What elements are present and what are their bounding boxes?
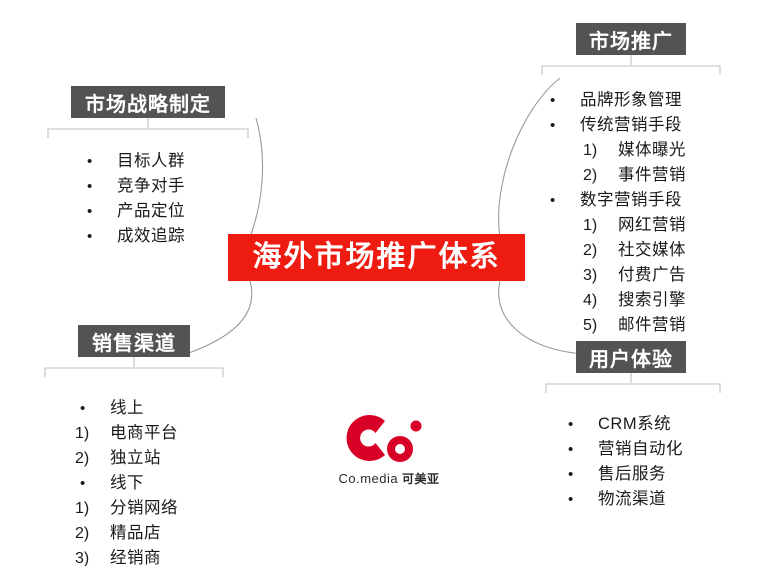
center-node-title: 海外市场推广体系	[252, 243, 500, 272]
list-marker: •	[563, 463, 598, 487]
list-text: 营销自动化	[598, 437, 683, 461]
mindmap-canvas: 海外市场推广体系 市场战略制定 • 目标人群 • 竞争对手 • 产品定位 • 成…	[0, 0, 773, 566]
list-text: 产品定位	[117, 199, 185, 223]
list-item[interactable]: • 物流渠道	[563, 487, 683, 512]
list-item[interactable]: 3) 付费广告	[545, 263, 686, 288]
list-item[interactable]: 3) 经销商	[75, 546, 178, 566]
list-marker: •	[82, 225, 117, 249]
list-item[interactable]: 2) 独立站	[75, 446, 178, 471]
logo-wordmark-en: Co.media	[339, 471, 399, 486]
list-marker: •	[75, 472, 110, 496]
list-marker: •	[563, 488, 598, 512]
co-media-logo-mark	[323, 407, 455, 469]
list-item[interactable]: 4) 搜索引擎	[545, 288, 686, 313]
list-marker: 2)	[583, 164, 618, 188]
branch-header-sales-channel[interactable]: 销售渠道	[78, 325, 190, 357]
list-marker: •	[545, 114, 580, 138]
list-item[interactable]: 1) 媒体曝光	[545, 138, 686, 163]
bracket-sales-channel	[43, 357, 235, 379]
list-text: 传统营销手段	[580, 113, 682, 137]
list-item[interactable]: • 目标人群	[82, 149, 185, 174]
list-marker: 5)	[583, 314, 618, 338]
list-item[interactable]: • 竞争对手	[82, 174, 185, 199]
branch-header-market-promotion[interactable]: 市场推广	[576, 23, 686, 55]
branch-items-sales-channel: • 线上 1) 电商平台 2) 独立站 • 线下 1) 分销网络 2) 精品店 …	[75, 396, 178, 566]
list-marker: •	[75, 397, 110, 421]
bracket-market-strategy	[46, 118, 258, 140]
list-marker: 1)	[583, 139, 618, 163]
list-text: 竞争对手	[117, 174, 185, 198]
list-marker: 1)	[583, 214, 618, 238]
list-text: 事件营销	[618, 163, 686, 187]
list-marker: 2)	[75, 447, 110, 471]
branch-items-market-promotion: • 品牌形象管理 • 传统营销手段 1) 媒体曝光 2) 事件营销 • 数字营销…	[545, 88, 686, 338]
list-marker: •	[82, 200, 117, 224]
bracket-user-experience	[544, 373, 736, 395]
list-marker: •	[82, 150, 117, 174]
bracket-market-promotion	[540, 55, 732, 77]
list-marker: 2)	[583, 239, 618, 263]
center-node[interactable]: 海外市场推广体系	[228, 234, 525, 281]
list-item[interactable]: 2) 社交媒体	[545, 238, 686, 263]
list-item[interactable]: • 品牌形象管理	[545, 88, 686, 113]
logo-wordmark-cn: 可美亚	[398, 472, 439, 486]
list-text: 经销商	[110, 546, 161, 566]
branch-header-user-experience[interactable]: 用户体验	[576, 341, 686, 373]
list-item[interactable]: • 数字营销手段	[545, 188, 686, 213]
list-item[interactable]: • 售后服务	[563, 462, 683, 487]
list-text: 社交媒体	[618, 238, 686, 262]
list-text: 线上	[110, 396, 144, 420]
list-marker: •	[82, 175, 117, 199]
list-marker: 3)	[583, 264, 618, 288]
branch-items-user-experience: • CRM系统 • 营销自动化 • 售后服务 • 物流渠道	[563, 412, 683, 512]
list-marker: 3)	[75, 547, 110, 566]
list-item[interactable]: 5) 邮件营销	[545, 313, 686, 338]
list-text: 成效追踪	[117, 224, 185, 248]
list-text: 精品店	[110, 521, 161, 545]
list-marker: •	[545, 189, 580, 213]
list-item[interactable]: 2) 精品店	[75, 521, 178, 546]
branch-title-market-strategy: 市场战略制定	[85, 88, 211, 117]
list-item[interactable]: 1) 网红营销	[545, 213, 686, 238]
list-item[interactable]: 1) 分销网络	[75, 496, 178, 521]
branch-title-user-experience: 用户体验	[589, 343, 673, 372]
list-marker: •	[563, 413, 598, 437]
connector-bottom-left	[186, 281, 252, 354]
list-text: 数字营销手段	[580, 188, 682, 212]
branch-title-market-promotion: 市场推广	[589, 25, 673, 54]
list-item[interactable]: • 成效追踪	[82, 224, 185, 249]
list-text: 品牌形象管理	[580, 88, 682, 112]
branch-items-market-strategy: • 目标人群 • 竞争对手 • 产品定位 • 成效追踪	[82, 149, 185, 249]
list-item[interactable]: • 线下	[75, 471, 178, 496]
branch-header-market-strategy[interactable]: 市场战略制定	[71, 86, 225, 118]
list-text: 分销网络	[110, 496, 178, 520]
brand-logo: Co.media 可美亚	[323, 407, 455, 497]
list-text: 付费广告	[618, 263, 686, 287]
list-item[interactable]: • 产品定位	[82, 199, 185, 224]
list-marker: •	[545, 89, 580, 113]
list-text: 网红营销	[618, 213, 686, 237]
list-item[interactable]: 1) 电商平台	[75, 421, 178, 446]
list-item[interactable]: • CRM系统	[563, 412, 683, 437]
list-item[interactable]: 2) 事件营销	[545, 163, 686, 188]
list-text: 电商平台	[110, 421, 178, 445]
list-item[interactable]: • 传统营销手段	[545, 113, 686, 138]
list-text: 独立站	[110, 446, 161, 470]
list-marker: •	[563, 438, 598, 462]
list-text: 媒体曝光	[618, 138, 686, 162]
list-text: 售后服务	[598, 462, 666, 486]
list-item[interactable]: • 线上	[75, 396, 178, 421]
list-item[interactable]: • 营销自动化	[563, 437, 683, 462]
list-text: 物流渠道	[598, 487, 666, 511]
list-marker: 1)	[75, 497, 110, 521]
list-text: 邮件营销	[618, 313, 686, 337]
list-text: 线下	[110, 471, 144, 495]
branch-title-sales-channel: 销售渠道	[92, 327, 176, 356]
list-marker: 4)	[583, 289, 618, 313]
list-text: 目标人群	[117, 149, 185, 173]
list-text: CRM系统	[598, 412, 671, 436]
logo-wordmark: Co.media 可美亚	[323, 470, 455, 487]
list-marker: 2)	[75, 522, 110, 546]
list-marker: 1)	[75, 422, 110, 446]
list-text: 搜索引擎	[618, 288, 686, 312]
